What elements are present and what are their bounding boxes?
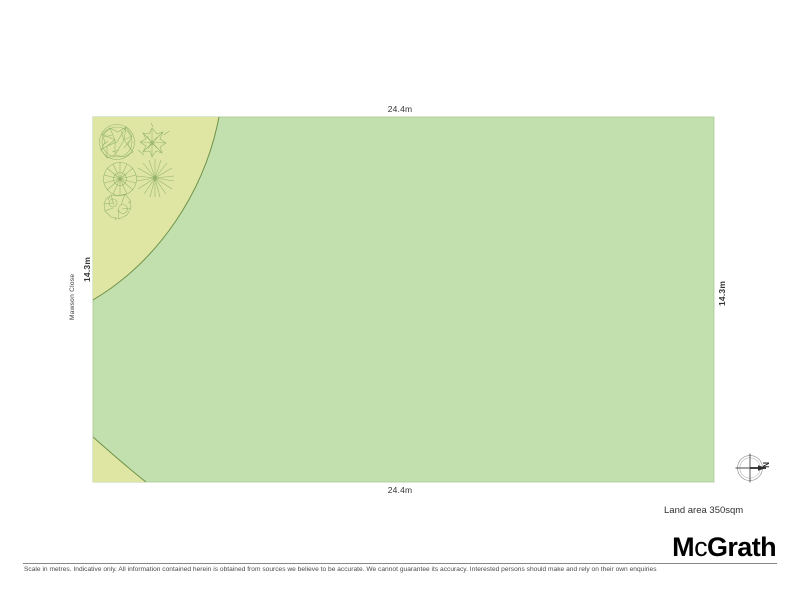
dimension-label-top: 24.4m [0,104,800,114]
logo-part-grath: Grath [707,532,776,562]
street-name-label: Mawson Close [69,274,76,320]
footer-divider [23,563,777,564]
compass-rose: N [732,450,780,486]
mcgrath-logo: McGrath [672,534,776,561]
logo-part-c: c [694,532,707,562]
north-arrow-icon [732,450,780,486]
logo-part-m: M [672,532,694,562]
dimension-label-right: 14.3m [717,281,727,306]
site-plan-page: 24.4m 24.4m 14.3m 14.3m Mawson Close N L… [0,0,800,600]
dimension-label-left: 14.3m [82,257,92,282]
dimension-label-bottom: 24.4m [0,485,800,495]
compass-north-label: N [761,462,770,468]
footer-disclaimer: Scale in metres. Indicative only. All in… [24,566,776,573]
land-area-label: Land area 350sqm [664,505,743,516]
